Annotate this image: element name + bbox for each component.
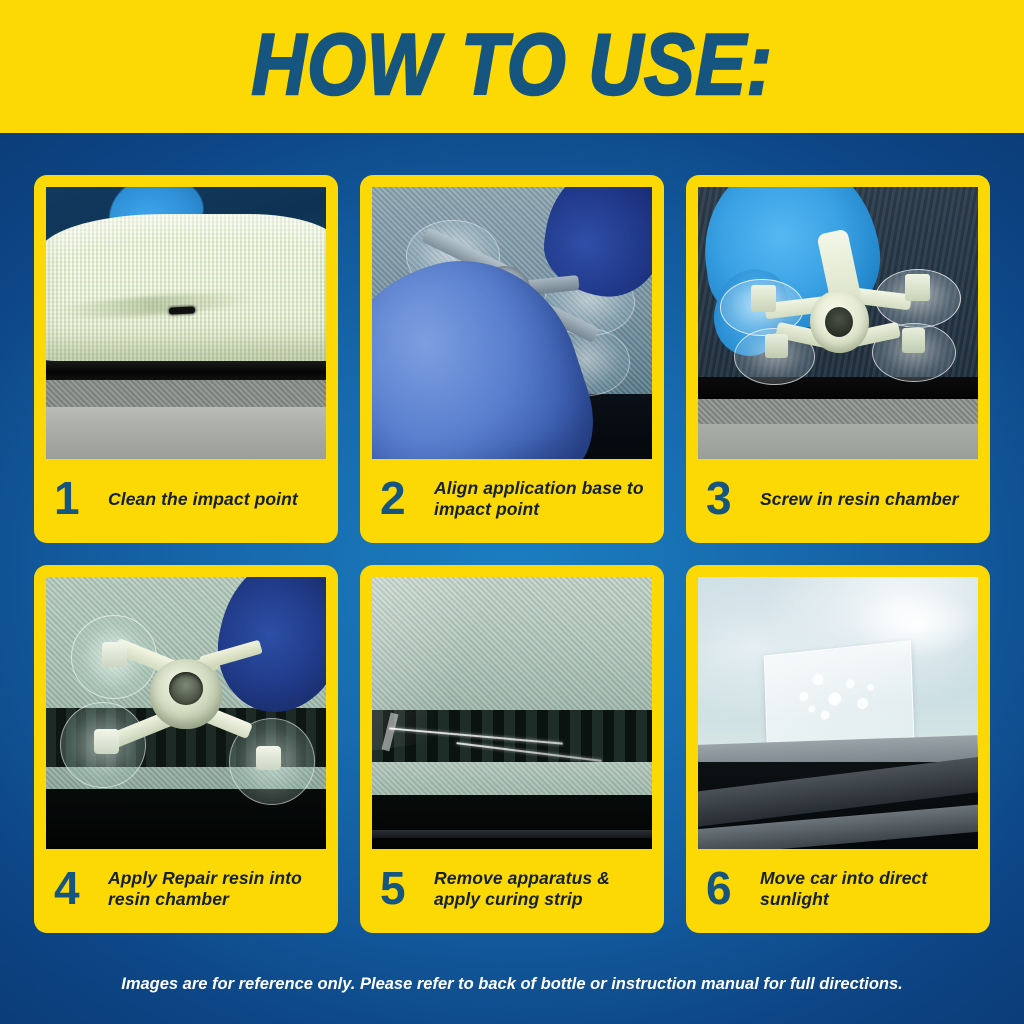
step-caption-6: 6 Move car into direct sunlight bbox=[698, 849, 978, 933]
photo4-nub-one bbox=[102, 642, 127, 666]
photo5-glass-lower bbox=[372, 762, 652, 795]
photo6-curing-strip bbox=[764, 640, 914, 753]
how-to-use-poster: HOW TO USE: 1 Clean the impact point bbox=[0, 0, 1024, 1024]
step-number-6: 6 bbox=[706, 865, 760, 911]
step-number-1: 1 bbox=[54, 475, 108, 521]
step-caption-1: 1 Clean the impact point bbox=[46, 459, 326, 543]
photo3-nub-top-right bbox=[905, 274, 930, 301]
step-card-2[interactable]: 2 Align application base to impact point bbox=[360, 175, 664, 543]
photo3-cowl-texture bbox=[698, 399, 978, 423]
step-caption-4: 4 Apply Repair resin into resin chamber bbox=[46, 849, 326, 933]
step-caption-5: 5 Remove apparatus & apply curing strip bbox=[372, 849, 652, 933]
step-photo-1 bbox=[46, 187, 326, 459]
step-card-4[interactable]: 4 Apply Repair resin into resin chamber bbox=[34, 565, 338, 933]
photo5-dark-area bbox=[372, 795, 652, 849]
photo1-impact-chip bbox=[169, 306, 195, 314]
step-card-1[interactable]: 1 Clean the impact point bbox=[34, 175, 338, 543]
step-text-4: Apply Repair resin into resin chamber bbox=[108, 868, 320, 910]
step-number-3: 3 bbox=[706, 475, 760, 521]
step-card-3[interactable]: 3 Screw in resin chamber bbox=[686, 175, 990, 543]
step-photo-5 bbox=[372, 577, 652, 849]
photo3-hood bbox=[698, 424, 978, 459]
step-photo-4 bbox=[46, 577, 326, 849]
step-text-2: Align application base to impact point bbox=[434, 478, 646, 520]
photo4-resin-chamber-hole bbox=[169, 672, 203, 705]
photo1-microfiber-cloth bbox=[46, 214, 326, 361]
photo1-hood bbox=[46, 407, 326, 459]
photo1-cowl-texture bbox=[46, 380, 326, 407]
step-text-5: Remove apparatus & apply curing strip bbox=[434, 868, 646, 910]
step-card-6[interactable]: 6 Move car into direct sunlight bbox=[686, 565, 990, 933]
photo3-nub-bottom-right bbox=[902, 328, 924, 352]
page-title: HOW TO USE: bbox=[251, 22, 772, 112]
step-photo-6 bbox=[698, 577, 978, 849]
steps-grid: 1 Clean the impact point 2 bbox=[34, 175, 990, 933]
step-text-3: Screw in resin chamber bbox=[760, 489, 959, 510]
photo1-black-trim bbox=[46, 361, 326, 380]
photo5-sill bbox=[372, 830, 652, 838]
step-photo-3 bbox=[698, 187, 978, 459]
photo6-resin-bubbles bbox=[765, 641, 913, 752]
header-banner: HOW TO USE: bbox=[0, 0, 1024, 133]
step-caption-2: 2 Align application base to impact point bbox=[372, 459, 652, 543]
disclaimer-text: Images are for reference only. Please re… bbox=[0, 975, 1024, 994]
step-number-5: 5 bbox=[380, 865, 434, 911]
photo4-nub-three bbox=[256, 746, 281, 770]
step-text-1: Clean the impact point bbox=[108, 489, 298, 510]
step-photo-2 bbox=[372, 187, 652, 459]
step-text-6: Move car into direct sunlight bbox=[760, 868, 972, 910]
photo5-glass-sheen bbox=[372, 577, 552, 753]
step-card-5[interactable]: 5 Remove apparatus & apply curing strip bbox=[360, 565, 664, 933]
photo3-hub-hole bbox=[825, 307, 853, 337]
photo3-nub-bottom-left bbox=[765, 334, 787, 358]
photo3-nub-top-left bbox=[751, 285, 776, 312]
photo4-nub-two bbox=[94, 729, 119, 753]
step-number-4: 4 bbox=[54, 865, 108, 911]
step-caption-3: 3 Screw in resin chamber bbox=[698, 459, 978, 543]
photo3-black-trim bbox=[698, 377, 978, 399]
step-number-2: 2 bbox=[380, 475, 434, 521]
